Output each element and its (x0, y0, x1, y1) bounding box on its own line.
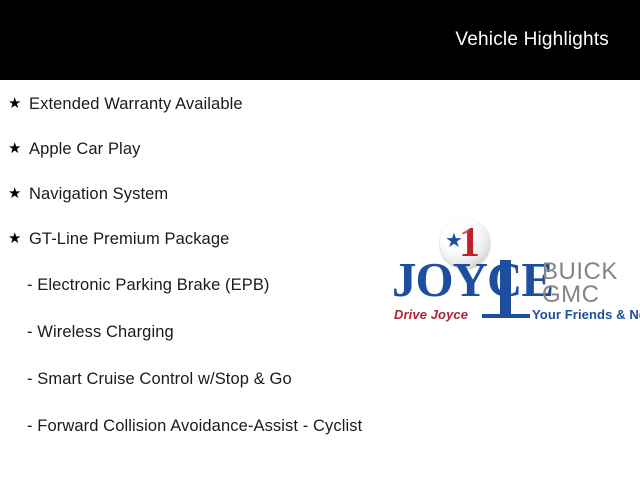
list-item: - Wireless Charging (0, 320, 392, 345)
star-bullet-icon: ★ (8, 93, 29, 115)
sub-highlight-label: - Forward Collision Avoidance-Assist - C… (27, 414, 362, 439)
highlight-label: Extended Warranty Available (29, 93, 392, 115)
tagline-right-text: Your Friends & Neighbors Do! (532, 306, 640, 323)
list-item: ★ Extended Warranty Available (0, 93, 392, 115)
sub-highlight-label: - Smart Cruise Control w/Stop & Go (27, 367, 292, 392)
brand-gmc: GMC (542, 283, 618, 306)
list-item: ★ Navigation System (0, 183, 392, 205)
list-item: - Electronic Parking Brake (EPB) (0, 273, 392, 298)
dealer-wordmark: JOYCE (392, 254, 553, 306)
list-item: ★ GT-Line Premium Package (0, 228, 392, 250)
vehicle-highlights-slide: Vehicle Highlights ★ Extended Warranty A… (0, 0, 640, 480)
star-bullet-icon: ★ (8, 228, 29, 250)
sub-highlight-label: - Wireless Charging (27, 320, 174, 345)
highlight-label: GT-Line Premium Package (29, 228, 392, 250)
dealer-logo: ★ 1 JOYCE BUICK GMC Drive Joyce Your Fri… (392, 216, 616, 334)
sub-highlight-label: - Electronic Parking Brake (EPB) (27, 273, 270, 298)
list-item: ★ Apple Car Play (0, 138, 392, 160)
list-item: - Forward Collision Avoidance-Assist - C… (0, 414, 392, 439)
star-bullet-icon: ★ (8, 138, 29, 160)
tagline-left-text: Drive Joyce (394, 306, 468, 323)
highlight-label: Apple Car Play (29, 138, 392, 160)
brand-buick: BUICK (542, 260, 618, 283)
highlights-list: ★ Extended Warranty Available ★ Apple Ca… (0, 80, 392, 461)
brand-names: BUICK GMC (542, 260, 618, 306)
list-item: - Smart Cruise Control w/Stop & Go (0, 367, 392, 392)
tagline-divider-bar (482, 314, 530, 318)
header-bar: Vehicle Highlights (0, 0, 640, 80)
page-title: Vehicle Highlights (455, 28, 609, 52)
badge-gloss-highlight (449, 222, 469, 233)
wordmark-y-stem (500, 260, 511, 315)
dealer-tagline: Drive Joyce Your Friends & Neighbors Do! (394, 306, 616, 324)
star-bullet-icon: ★ (8, 183, 29, 205)
highlight-label: Navigation System (29, 183, 392, 205)
